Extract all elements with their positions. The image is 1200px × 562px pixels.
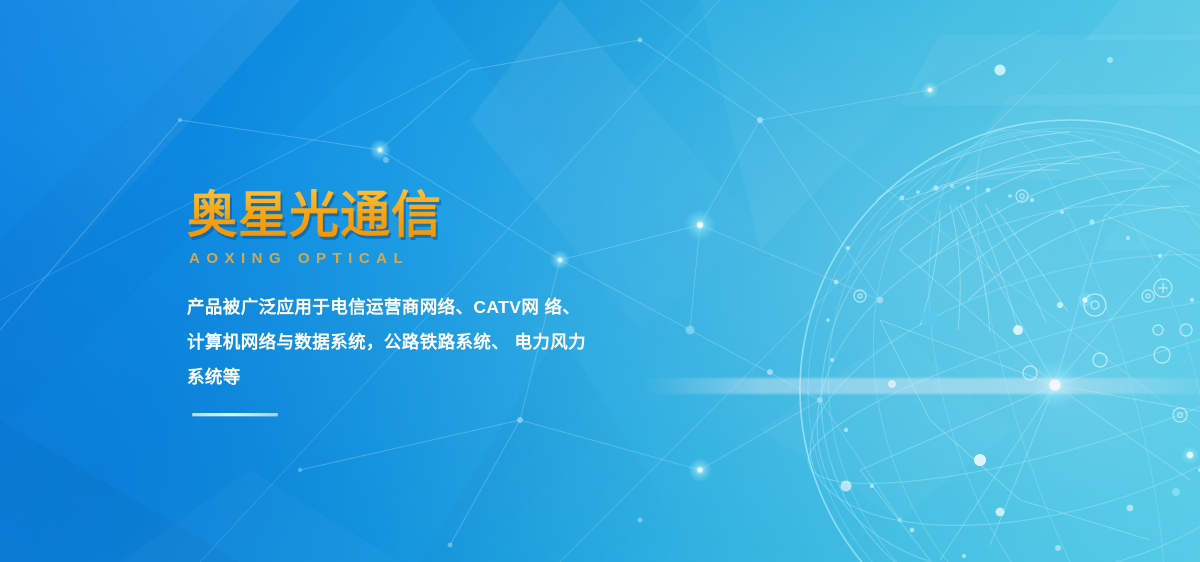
brand-title-en: AOXING OPTICAL xyxy=(189,250,707,268)
globe-wireframe xyxy=(766,74,1200,562)
banner-description: 产品被广泛应用于电信运营商网络、CATV网 络、计算机网络与数据系统，公路铁路系… xyxy=(187,290,587,395)
hero-banner: 奥星光通信 AOXING OPTICAL 产品被广泛应用于电信运营商网络、CAT… xyxy=(0,0,1200,562)
decorative-rule xyxy=(192,413,278,416)
light-band xyxy=(640,378,1200,394)
description-line-1: 产品被广泛应用于电信运营商网络、CATV网 xyxy=(187,297,539,317)
banner-content: 奥星光通信 AOXING OPTICAL 产品被广泛应用于电信运营商网络、CAT… xyxy=(187,188,707,416)
brand-title-cn: 奥星光通信 xyxy=(187,188,707,242)
